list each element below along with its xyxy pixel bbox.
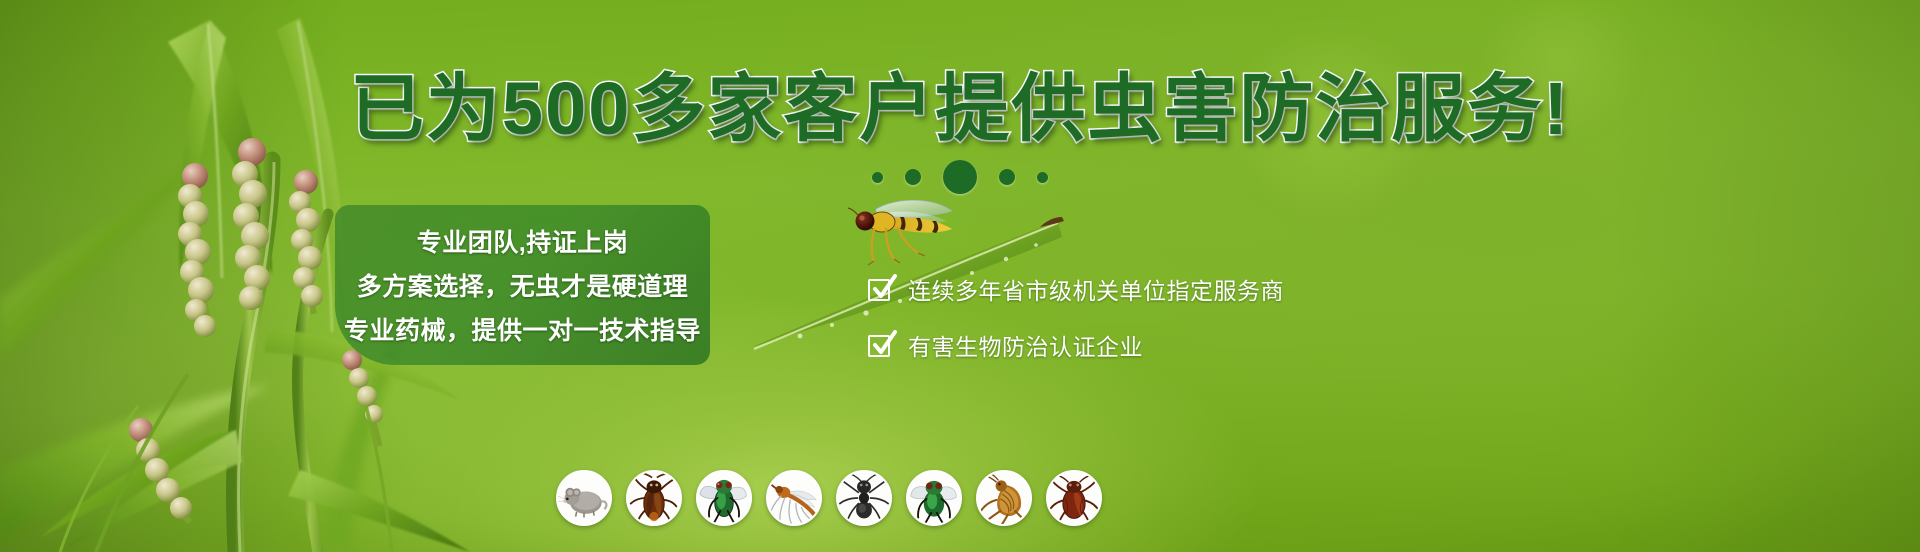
decorative-dots xyxy=(0,160,1920,194)
mouse-icon[interactable] xyxy=(556,470,612,526)
checkbox-checked-icon xyxy=(868,332,894,358)
mosquito-icon[interactable] xyxy=(766,470,822,526)
selling-point-line-1: 专业团队,持证上岗 xyxy=(417,223,628,259)
selling-point-line-2: 多方案选择，无虫才是硬道理 xyxy=(357,267,689,303)
dot-medium-right xyxy=(999,169,1015,185)
checkbox-checked-icon xyxy=(868,276,894,302)
credential-bullet-1-label: 连续多年省市级机关单位指定服务商 xyxy=(908,272,1284,306)
dot-small-left xyxy=(872,172,883,183)
headline-text: 已为500多家客户提供虫害防治服务! xyxy=(350,67,1570,150)
fly-icon[interactable] xyxy=(696,470,752,526)
credential-bullet-1: 连续多年省市级机关单位指定服务商 xyxy=(868,272,1284,306)
credential-bullet-list: 连续多年省市级机关单位指定服务商 有害生物防治认证企业 xyxy=(868,272,1284,362)
page-title: 已为500多家客户提供虫害防治服务! xyxy=(0,72,1920,146)
dot-medium-left xyxy=(905,169,921,185)
hoverfly-image xyxy=(840,195,970,267)
selling-points-text: 专业团队,持证上岗 多方案选择，无虫才是硬道理 专业药械，提供一对一技术指导 xyxy=(335,205,710,365)
flea-icon[interactable] xyxy=(976,470,1032,526)
cockroach-icon[interactable] xyxy=(626,470,682,526)
credential-bullet-2-label: 有害生物防治认证企业 xyxy=(908,328,1143,362)
dot-large-center xyxy=(943,160,977,194)
pest-control-banner: 已为500多家客户提供虫害防治服务! 专业团队,持证上岗 多方案选择，无虫才是硬… xyxy=(0,0,1920,552)
bedbug-icon[interactable] xyxy=(1046,470,1102,526)
selling-point-line-3: 专业药械，提供一对一技术指导 xyxy=(344,311,701,347)
ant-icon[interactable] xyxy=(836,470,892,526)
pest-icon-row xyxy=(556,470,1102,526)
dot-small-right xyxy=(1037,172,1048,183)
credential-bullet-2: 有害生物防治认证企业 xyxy=(868,328,1284,362)
greenfly-icon[interactable] xyxy=(906,470,962,526)
